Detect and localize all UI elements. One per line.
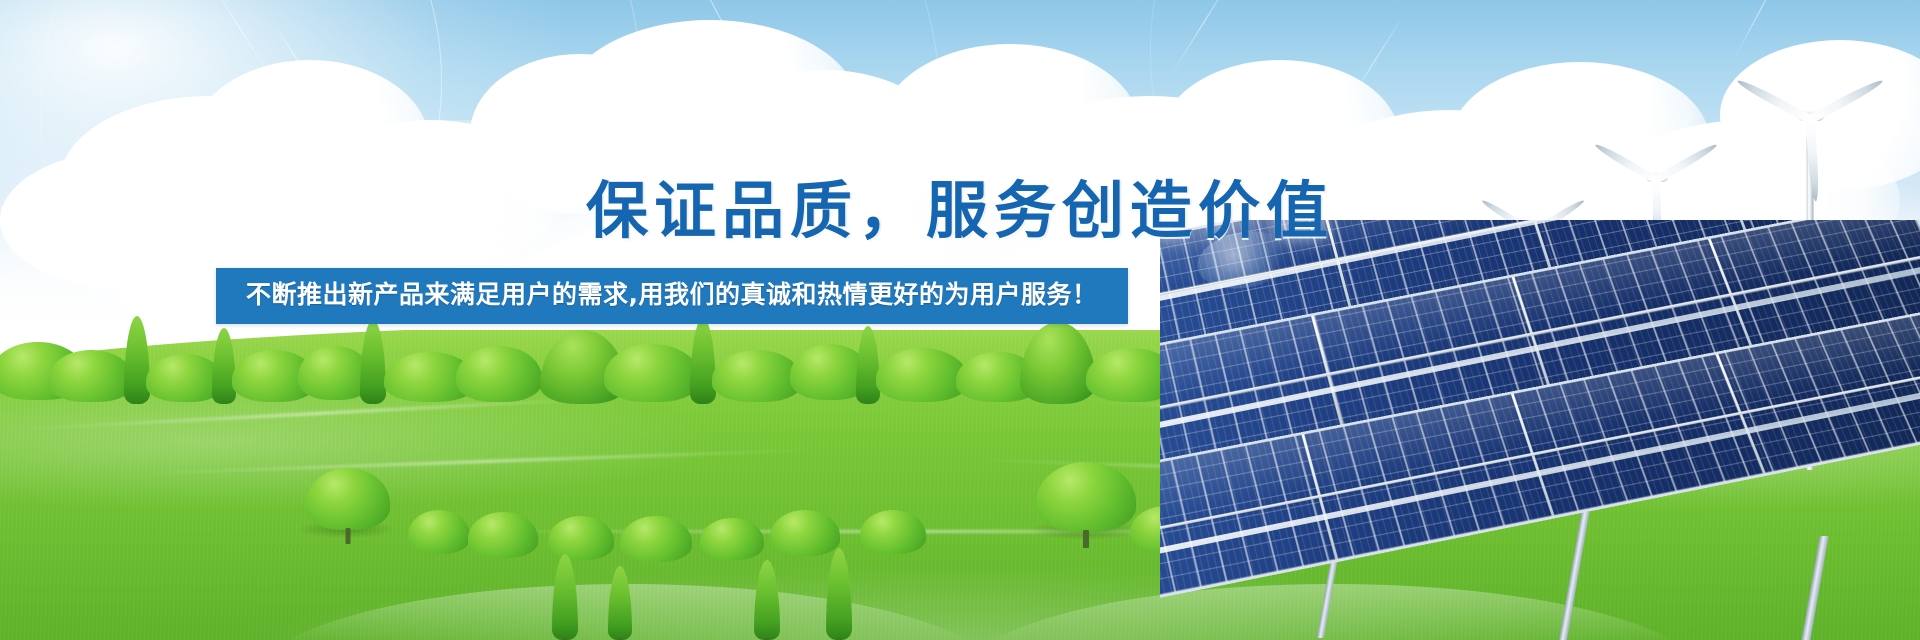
tree-icon bbox=[124, 316, 150, 404]
panel-support-leg bbox=[1800, 536, 1828, 640]
tree-icon bbox=[604, 344, 700, 402]
solar-panel-array bbox=[1160, 220, 1920, 640]
tree-icon bbox=[1020, 322, 1096, 404]
tree-icon bbox=[360, 320, 386, 404]
subtitle-banner-bar: 不断推出新产品来满足用户的需求,用我们的真诚和热情更好的为用户服务！ bbox=[216, 268, 1128, 324]
solar-panel-group bbox=[1160, 220, 1920, 640]
tree-icon bbox=[856, 326, 880, 404]
tree-icon bbox=[456, 346, 542, 402]
tree-icon bbox=[212, 328, 236, 404]
tree-icon bbox=[712, 350, 802, 402]
tree-icon bbox=[48, 350, 134, 402]
panel-support-leg bbox=[1559, 512, 1590, 640]
tree-icon bbox=[690, 318, 716, 404]
hero-banner: 保证品质，服务创造价值 不断推出新产品来满足用户的需求,用我们的真诚和热情更好的… bbox=[0, 0, 1920, 640]
page-title: 保证品质，服务创造价值 bbox=[0, 160, 1920, 250]
tree-icon bbox=[876, 348, 968, 402]
subtitle-text: 不断推出新产品来满足用户的需求,用我们的真诚和热情更好的为用户服务！ bbox=[246, 281, 1098, 309]
